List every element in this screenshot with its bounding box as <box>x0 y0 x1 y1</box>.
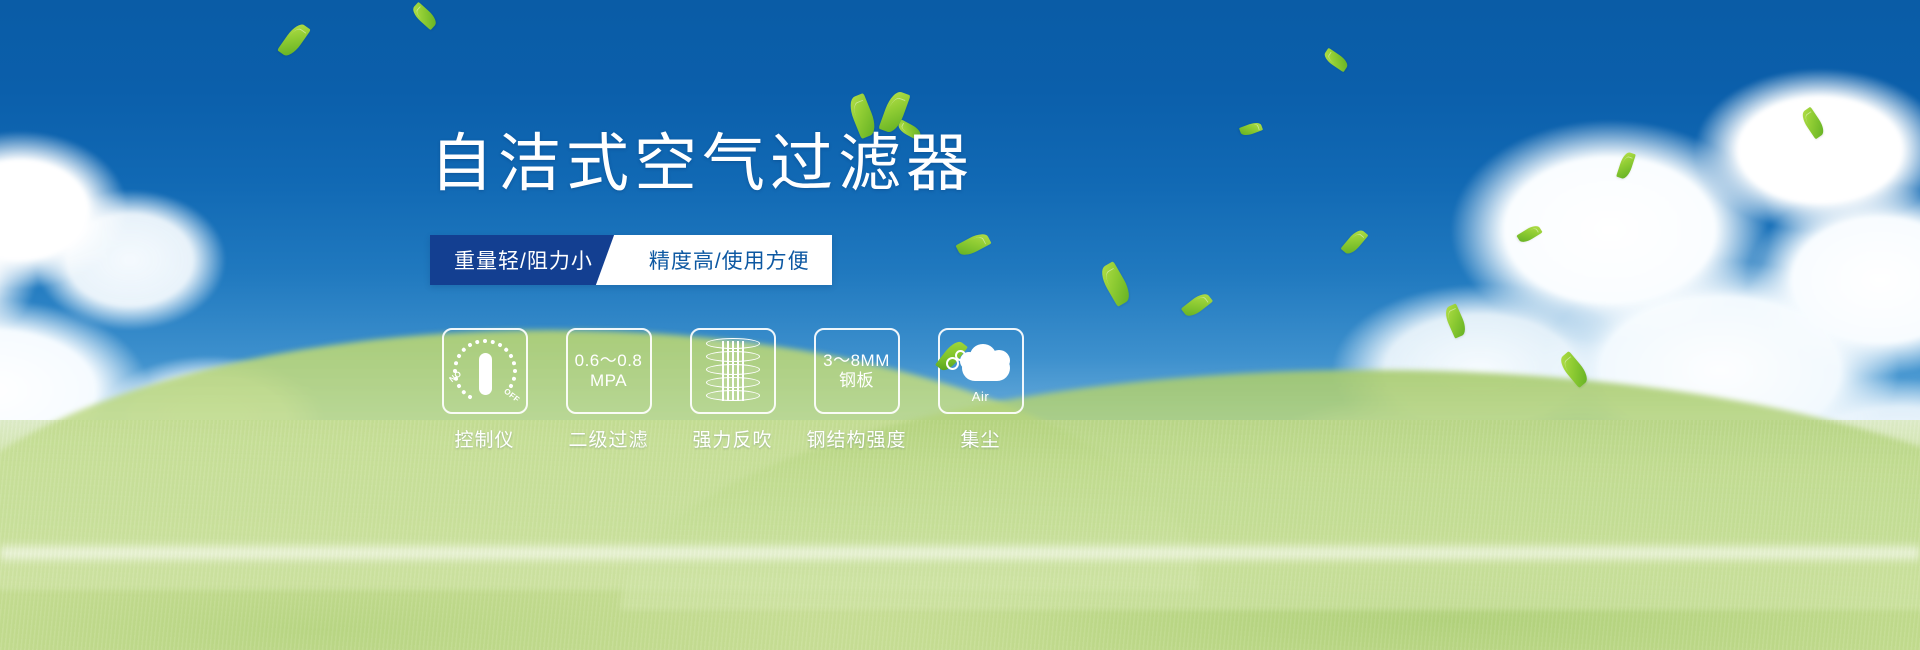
feature-item-steel-strength[interactable]: 3～8MM 钢板 钢结构强度 <box>809 328 904 452</box>
steel-plate-text-icon: 3～8MM 钢板 <box>823 351 890 392</box>
title-block: 自洁式空气过滤器 <box>430 133 974 196</box>
dial-on-label: NO <box>447 369 463 384</box>
feature-item-secondary-filtration[interactable]: 0.6～0.8 MPA 二级过滤 <box>561 328 656 452</box>
pressure-text-icon: 0.6～0.8 MPA <box>575 351 643 392</box>
feature-icon-box: 3～8MM 钢板 <box>814 328 900 414</box>
feature-item-controller[interactable]: NO OFF 控制仪 <box>437 328 532 452</box>
dial-off-label: OFF <box>502 387 521 405</box>
cloud-air-icon: Air <box>944 341 1018 401</box>
cloud-puff <box>988 350 1010 371</box>
badge-label: 精度高/使用方便 <box>649 245 810 275</box>
feature-label: 钢结构强度 <box>807 425 907 452</box>
filter-cartridge-icon <box>702 338 764 404</box>
feature-label: 集尘 <box>960 425 1000 452</box>
air-label: Air <box>944 389 1018 404</box>
title-leaf-decoration <box>847 89 917 141</box>
tagline-badges: 重量轻/阻力小 精度高/使用方便 <box>430 235 832 285</box>
control-dial-icon: NO OFF <box>449 335 521 407</box>
badge-weight-resistance[interactable]: 重量轻/阻力小 <box>430 235 619 285</box>
leaf-icon <box>846 93 879 139</box>
air-swirl <box>955 350 966 361</box>
leaf-icon <box>878 89 910 135</box>
feature-label: 二级过滤 <box>568 425 648 452</box>
banner-content: 自洁式空气过滤器 重量轻/阻力小 精度高/使用方便 <box>0 0 1920 650</box>
feature-item-dust-collection[interactable]: Air 集尘 <box>933 328 1028 452</box>
hero-banner: 自洁式空气过滤器 重量轻/阻力小 精度高/使用方便 <box>0 0 1920 650</box>
badge-label: 重量轻/阻力小 <box>454 245 593 275</box>
feature-icon-box: 0.6～0.8 MPA <box>566 328 652 414</box>
feature-label: 强力反吹 <box>692 425 772 452</box>
feature-icon-box <box>690 328 776 414</box>
dial-knob <box>479 353 492 395</box>
feature-icon-box: NO OFF <box>442 328 528 414</box>
feature-icon-box: Air <box>938 328 1024 414</box>
feature-item-strong-blowback[interactable]: 强力反吹 <box>685 328 780 452</box>
page-title: 自洁式空气过滤器 <box>430 133 974 196</box>
feature-label: 控制仪 <box>454 425 514 452</box>
badge-precision-convenience[interactable]: 精度高/使用方便 <box>619 235 832 285</box>
feature-icon-row: NO OFF 控制仪 0.6～0.8 MPA 二级过滤 <box>437 328 1028 452</box>
